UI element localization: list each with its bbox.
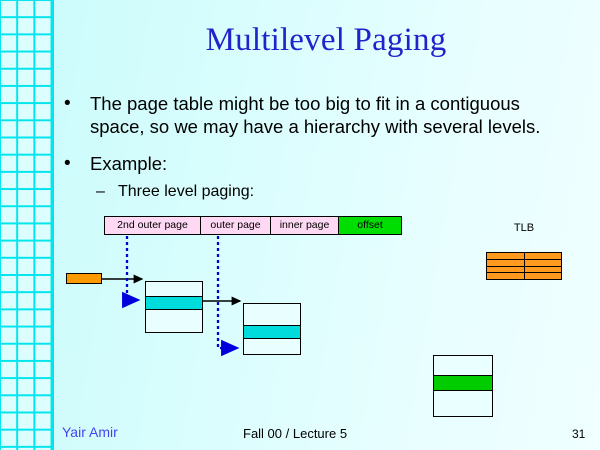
address-field-offset: offset (339, 217, 401, 234)
tlb-cell (525, 253, 562, 259)
page-table-row (146, 282, 202, 296)
connector-field-outer-page (218, 236, 236, 348)
page-number: 31 (572, 427, 585, 441)
tlb-cell (487, 273, 525, 279)
address-field-inner-page: inner page (271, 217, 339, 234)
tlb-row (487, 267, 561, 274)
sub-bullet-marker: – (96, 182, 118, 202)
memory-row (434, 391, 492, 416)
memory-row (434, 356, 492, 375)
bullet-text: The page table might be too big to fit i… (90, 92, 544, 138)
tlb-cell (487, 253, 525, 259)
address-field-outer-page: outer page (201, 217, 271, 234)
tlb-row (487, 273, 561, 279)
connector-field-2nd-outer-page (127, 236, 137, 300)
page-table-level-1 (145, 281, 203, 333)
footer-course: Fall 00 / Lecture 5 (243, 426, 347, 441)
physical-memory-frame (433, 355, 493, 417)
tlb-table (486, 252, 562, 280)
sub-bullet-item-1: – Three level paging: (96, 182, 416, 202)
page-table-row (146, 310, 202, 331)
logical-address-field-table: 2nd outer page outer page inner page off… (104, 216, 402, 235)
page-title: Multilevel Paging (52, 22, 600, 59)
tlb-label: TLB (486, 222, 562, 234)
page-table-row (244, 304, 300, 325)
tlb-cell (487, 260, 525, 266)
decorative-grid-pattern (0, 0, 54, 450)
tlb-cell (525, 273, 562, 279)
memory-row-highlighted (434, 375, 492, 391)
tlb-cell (487, 267, 525, 273)
sub-bullet-text: Three level paging: (118, 182, 254, 202)
address-field-2nd-outer-page: 2nd outer page (105, 217, 201, 234)
slide-canvas: Multilevel Paging • The page table might… (0, 0, 600, 450)
footer-author: Yair Amir (62, 424, 118, 440)
tlb-cell (525, 260, 562, 266)
base-register-block (66, 273, 102, 284)
bullet-item-1: • The page table might be too big to fit… (64, 92, 544, 138)
page-table-level-2 (243, 303, 301, 355)
tlb-row (487, 260, 561, 267)
page-table-row-highlighted (244, 325, 300, 339)
tlb-cell (525, 267, 562, 273)
bullet-item-2: • Example: (64, 152, 364, 175)
tlb-row (487, 253, 561, 260)
bullet-marker: • (64, 92, 90, 138)
page-table-row-highlighted (146, 296, 202, 310)
page-table-row (244, 339, 300, 353)
bullet-text: Example: (90, 152, 167, 175)
bullet-marker: • (64, 152, 90, 175)
